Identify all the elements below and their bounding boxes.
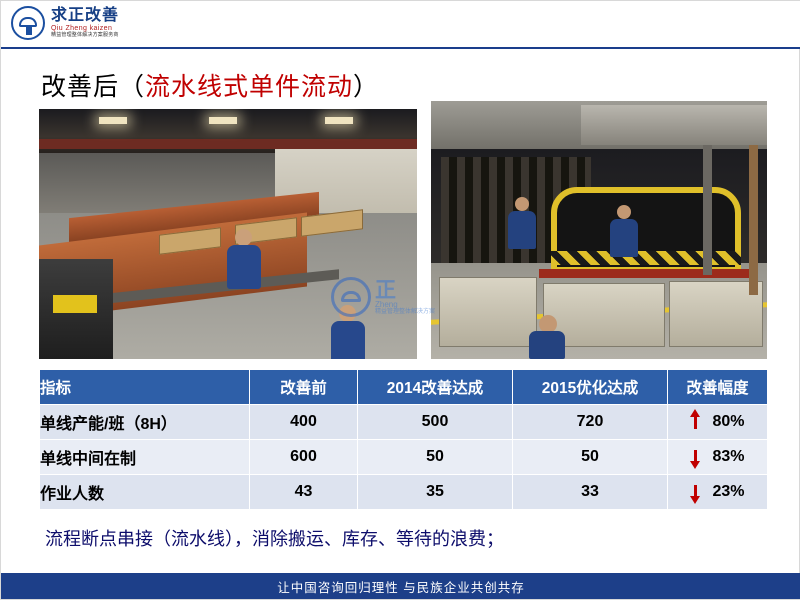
row-delta-value: 80% xyxy=(712,413,744,430)
row-2015: 33 xyxy=(513,475,668,510)
table-row: 单线中间在制 600 50 50 83% xyxy=(40,440,768,475)
logo-tagline: 精益管理整体解决方案服务商 xyxy=(51,33,119,38)
row-before: 400 xyxy=(250,405,358,440)
table-header-row: 指标 改善前 2014改善达成 2015优化达成 改善幅度 xyxy=(40,370,768,405)
photo-worker-head xyxy=(235,229,252,246)
photo-worker-body xyxy=(610,219,638,257)
page-title-highlight: 流水线式单件流动 xyxy=(145,73,353,101)
table-header-metric: 指标 xyxy=(40,370,250,405)
photo-worker-body xyxy=(331,321,365,359)
row-delta: 83% xyxy=(668,440,768,475)
production-line-photo-right xyxy=(431,101,767,359)
table-header-2014: 2014改善达成 xyxy=(358,370,513,405)
company-logo: 求正改善 Qiu Zheng kaizen 精益管理整体解决方案服务商 xyxy=(11,6,119,40)
page-title: 改善后（流水线式单件流动） xyxy=(41,67,379,103)
photo-worker-body xyxy=(508,211,536,249)
arrow-up-icon xyxy=(690,412,702,432)
slide-footer: 让中国咨询回归理性 与民族企业共创共存 xyxy=(1,573,800,599)
slide-canvas: 求正改善 Qiu Zheng kaizen 精益管理整体解决方案服务商 改善后（… xyxy=(0,0,800,600)
table-header-delta: 改善幅度 xyxy=(668,370,768,405)
photo-machine-panel xyxy=(53,295,97,313)
photo-hazard-stripes xyxy=(551,251,741,265)
logo-emblem-icon xyxy=(11,6,45,40)
production-line-photo-left xyxy=(39,109,417,359)
row-before: 43 xyxy=(250,475,358,510)
page-title-prefix: 改善后（ xyxy=(41,73,145,101)
row-delta-value: 23% xyxy=(712,483,744,500)
logo-chinese-name: 求正改善 xyxy=(51,8,119,25)
photo-lamp xyxy=(209,117,237,124)
table-header-before: 改善前 xyxy=(250,370,358,405)
photo-worker-body xyxy=(227,245,261,289)
row-before: 600 xyxy=(250,440,358,475)
row-label: 作业人数 xyxy=(40,475,250,510)
table-row: 作业人数 43 35 33 23% xyxy=(40,475,768,510)
photo-worker-head xyxy=(515,197,529,211)
table-header-2015: 2015优化达成 xyxy=(513,370,668,405)
row-delta: 23% xyxy=(668,475,768,510)
photo-lamp xyxy=(325,117,353,124)
photo-lamp xyxy=(99,117,127,124)
row-delta-value: 83% xyxy=(712,448,744,465)
photo-worker-body xyxy=(529,331,565,359)
table-row: 单线产能/班（8H） 400 500 720 80% xyxy=(40,405,768,440)
photo-red-bar xyxy=(539,269,753,278)
photo-beam xyxy=(39,139,417,149)
summary-caption: 流程断点串接（流水线），消除搬运、库存、等待的浪费； xyxy=(45,525,504,551)
row-2015: 720 xyxy=(513,405,668,440)
photo-pole xyxy=(703,145,712,275)
arrow-down-icon xyxy=(690,447,702,467)
row-2014: 35 xyxy=(358,475,513,510)
improvement-metrics-table: 指标 改善前 2014改善达成 2015优化达成 改善幅度 单线产能/班（8H）… xyxy=(39,369,768,510)
logo-english-name: Qiu Zheng kaizen xyxy=(51,25,119,32)
photo-panel xyxy=(439,277,537,347)
row-2015: 50 xyxy=(513,440,668,475)
slide-header-bar: 求正改善 Qiu Zheng kaizen 精益管理整体解决方案服务商 xyxy=(1,1,800,49)
row-2014: 500 xyxy=(358,405,513,440)
photo-duct xyxy=(581,105,767,145)
row-2014: 50 xyxy=(358,440,513,475)
row-delta: 80% xyxy=(668,405,768,440)
row-label: 单线产能/班（8H） xyxy=(40,405,250,440)
logo-text-block: 求正改善 Qiu Zheng kaizen 精益管理整体解决方案服务商 xyxy=(51,8,119,38)
photo-pole xyxy=(749,145,758,295)
photo-worker-head xyxy=(617,205,631,219)
row-label: 单线中间在制 xyxy=(40,440,250,475)
photo-worker-head xyxy=(339,305,356,322)
page-title-suffix: ） xyxy=(353,73,379,101)
arrow-down-icon xyxy=(690,482,702,502)
